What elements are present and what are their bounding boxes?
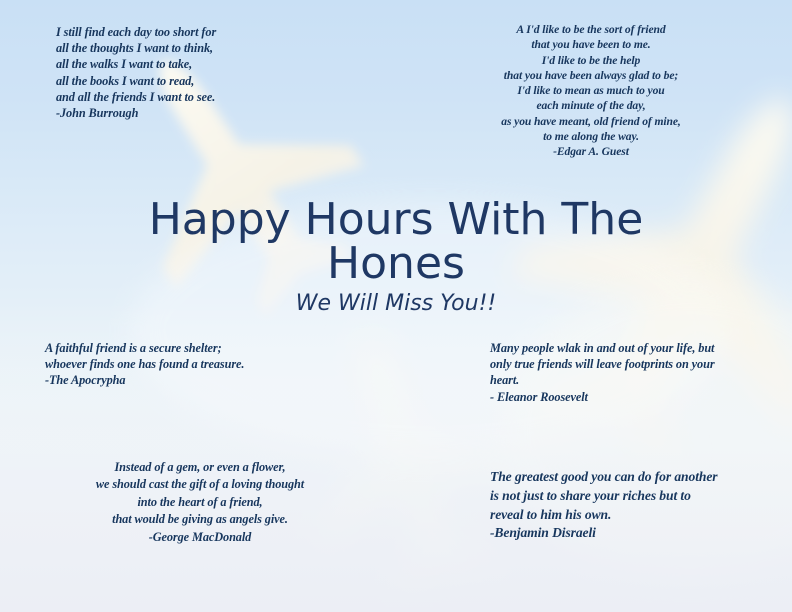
quote-bottom-right: The greatest good you can do for another…: [490, 468, 760, 543]
quote-top-right: A I'd like to be the sort of friend that…: [466, 22, 716, 160]
page-subtitle: We Will Miss You!!: [96, 292, 696, 316]
presentation-slide: I still find each day too short for all …: [0, 0, 792, 612]
title-block: Happy Hours With The Hones We Will Miss …: [96, 198, 696, 316]
quote-top-left: I still find each day too short for all …: [56, 24, 346, 121]
quote-bottom-left: Instead of a gem, or even a flower, we s…: [50, 459, 350, 546]
quote-mid-right: Many people wlak in and out of your life…: [490, 340, 746, 405]
page-title: Happy Hours With The Hones: [96, 198, 696, 286]
quote-mid-left: A faithful friend is a secure shelter; w…: [45, 340, 335, 389]
